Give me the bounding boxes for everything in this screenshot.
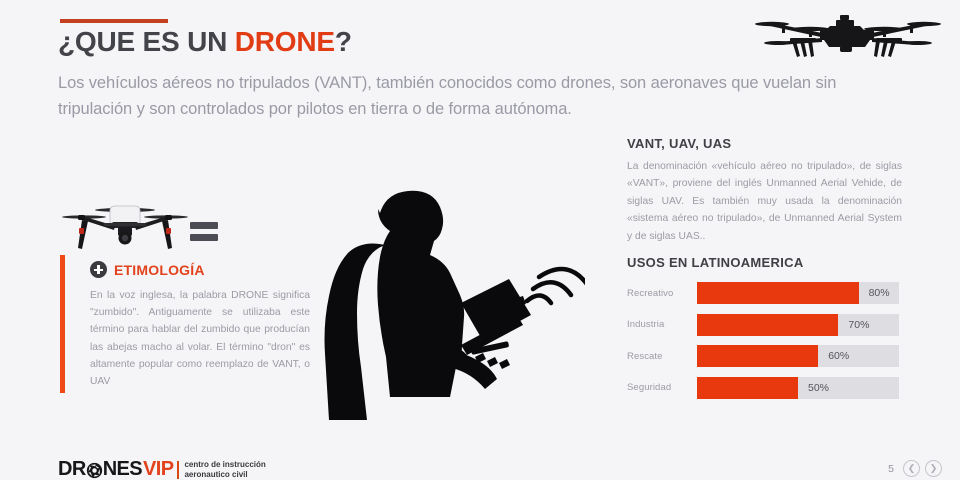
hexacopter-drone-icon	[752, 8, 942, 66]
bar-category-label: Industria	[627, 319, 697, 330]
bar-category-label: Rescate	[627, 351, 697, 362]
etymology-body: En la voz inglesa, la palabra DRONE sign…	[90, 287, 310, 390]
bar-fill	[697, 377, 798, 399]
logo-divider	[177, 461, 179, 479]
bar-row: Recreativo80%	[627, 282, 899, 304]
logo-tagline-line2: aeronautico civil	[184, 470, 247, 479]
pilot-silhouette	[285, 185, 585, 420]
next-page-button[interactable]: ❯	[925, 460, 942, 477]
usos-bar-chart: Recreativo80%Industria70%Rescate60%Segur…	[627, 282, 899, 408]
page-number: 5	[888, 463, 894, 475]
etymology-header: ETIMOLOGÍA	[90, 261, 310, 278]
bar-row: Seguridad50%	[627, 377, 899, 399]
bar-value-label: 50%	[808, 377, 829, 399]
logo-tagline: centro de instrucción aeronautico civil	[184, 460, 265, 479]
bar-value-label: 60%	[828, 345, 849, 367]
logo-text-nes: NES	[103, 458, 142, 480]
slide-root: ¿QUE ES UN DRONE? Los vehículos aéreos n…	[0, 0, 960, 480]
page-title-suffix: ?	[335, 26, 352, 57]
bar-category-label: Seguridad	[627, 382, 697, 393]
vant-heading: VANT, UAV, UAS	[627, 136, 731, 151]
plus-circle-icon	[90, 261, 107, 278]
logo-text-dr: DR	[58, 458, 86, 480]
bar-track: 50%	[697, 377, 899, 399]
bar-track: 60%	[697, 345, 899, 367]
page-title: ¿QUE ES UN DRONE?	[58, 26, 352, 58]
bar-track: 70%	[697, 314, 899, 336]
logo-text-vip: VIP	[143, 458, 173, 480]
page-subtitle: Los vehículos aéreos no tripulados (VANT…	[58, 70, 910, 122]
bar-fill	[697, 314, 838, 336]
brand-logo: DR NES VIP centro de instrucción aeronau…	[58, 458, 266, 480]
quadcopter-photo	[60, 200, 190, 262]
bar-value-label: 70%	[848, 314, 869, 336]
page-title-highlight: DRONE	[235, 26, 335, 57]
title-accent-rule	[60, 19, 168, 23]
vant-body: La denominación «vehículo aéreo no tripu…	[627, 158, 902, 245]
bar-category-label: Recreativo	[627, 288, 697, 299]
bar-fill	[697, 282, 859, 304]
pager: 5 ❮ ❯	[888, 460, 942, 477]
bar-row: Rescate60%	[627, 345, 899, 367]
aperture-icon	[86, 462, 103, 479]
bar-track: 80%	[697, 282, 899, 304]
equals-bar-top	[190, 222, 218, 229]
equals-decoration	[190, 222, 218, 241]
etymology-title: ETIMOLOGÍA	[114, 262, 205, 278]
equals-bar-bottom	[190, 234, 218, 241]
etymology-block: ETIMOLOGÍA En la voz inglesa, la palabra…	[60, 255, 310, 393]
logo-tagline-line1: centro de instrucción	[184, 460, 265, 469]
logo-wordmark: DR NES	[58, 458, 142, 480]
bar-row: Industria70%	[627, 314, 899, 336]
bar-value-label: 80%	[869, 282, 890, 304]
prev-page-button[interactable]: ❮	[903, 460, 920, 477]
page-title-prefix: ¿QUE ES UN	[58, 26, 235, 57]
bar-fill	[697, 345, 818, 367]
usos-heading: USOS EN LATINOAMERICA	[627, 255, 804, 270]
